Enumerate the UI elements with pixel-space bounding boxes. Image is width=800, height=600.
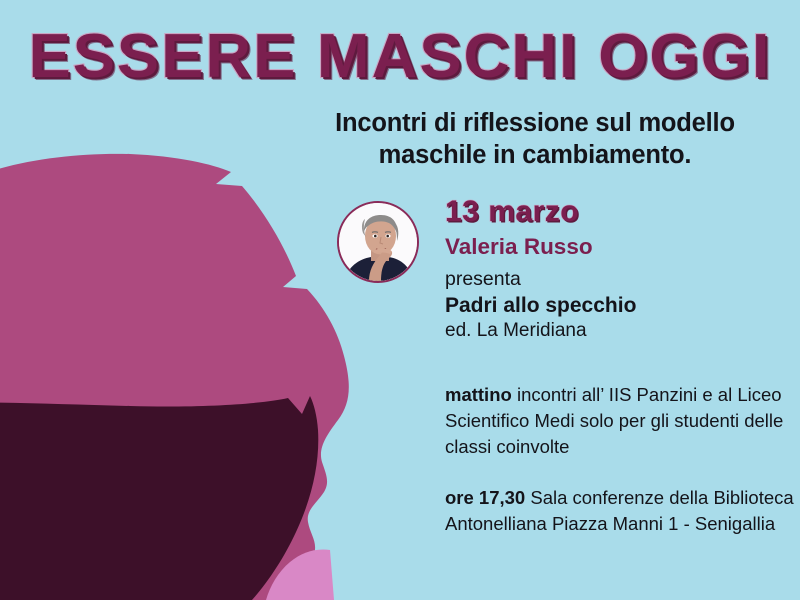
book-publisher: ed. La Meridiana <box>445 320 795 341</box>
spacer <box>445 342 795 382</box>
details-column: 13 marzo Valeria Russo presenta Padri al… <box>445 196 795 537</box>
morning-schedule: mattino incontri all’ IIS Panzini e al L… <box>445 382 795 461</box>
spacer <box>445 461 795 485</box>
speaker-name: Valeria Russo <box>445 235 795 260</box>
subtitle: Incontri di riflessione sul modello masc… <box>285 107 785 172</box>
evening-lead: ore 17,30 <box>445 487 525 508</box>
evening-schedule: ore 17,30 Sala conferenze della Bibliote… <box>445 485 795 538</box>
book-title: Padri allo specchio <box>445 294 795 318</box>
presenta-label: presenta <box>445 269 795 291</box>
event-date: 13 marzo <box>445 196 795 228</box>
morning-lead: mattino <box>445 384 512 405</box>
avatar <box>337 201 419 283</box>
silhouette-dark-shape <box>0 396 318 600</box>
portrait-photo <box>339 203 417 281</box>
page-title: ESSERE MASCHI OGGI <box>0 26 800 88</box>
poster-canvas: ESSERE MASCHI OGGI Incontri di riflessio… <box>0 0 800 600</box>
